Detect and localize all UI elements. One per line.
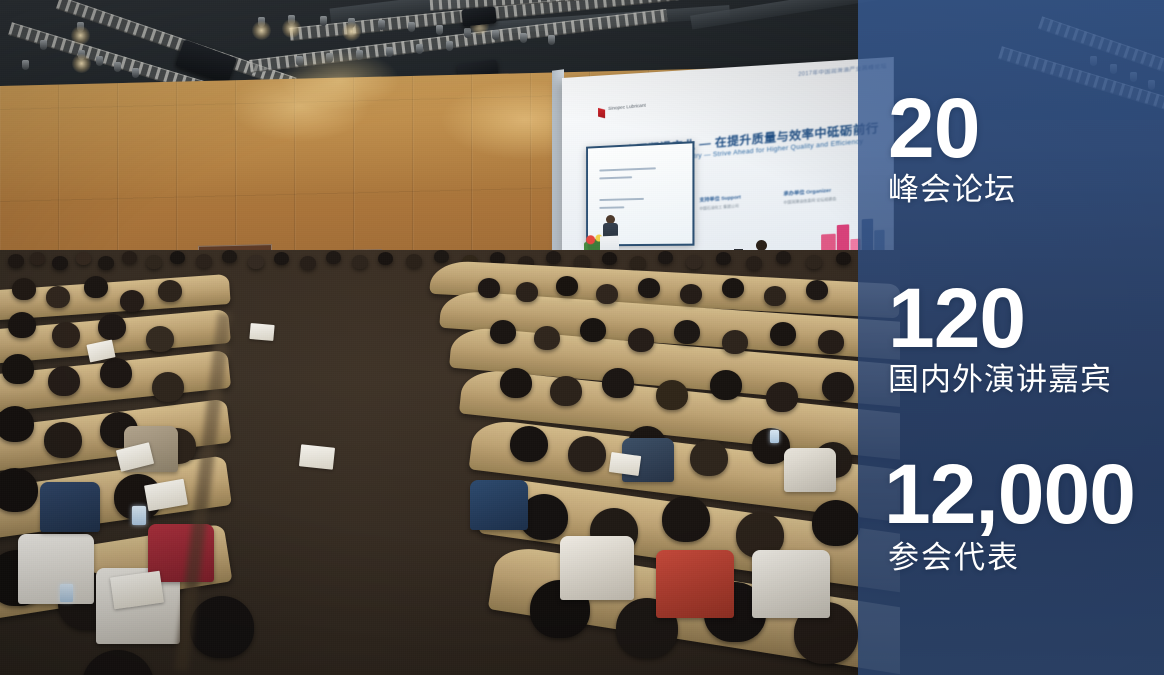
- audience-head: [680, 284, 702, 304]
- programme-booklet: [299, 444, 335, 469]
- audience-head: [510, 426, 548, 462]
- spotlight: [520, 33, 527, 43]
- audience-head: [478, 278, 500, 298]
- audience-head: [46, 286, 70, 308]
- audience-head: [500, 368, 532, 398]
- audience-head: [722, 330, 748, 354]
- credit-heading: 支持单位 Support: [699, 192, 757, 204]
- audience-head: [146, 255, 162, 269]
- audience-head: [556, 276, 578, 296]
- audience-head: [406, 254, 422, 268]
- stat-number-forums: 20: [888, 86, 1154, 170]
- credit-block: 支持单位 Support 中国石油化工 集团公司: [699, 192, 757, 250]
- spotlight: [378, 20, 385, 30]
- stat-block-delegates: 12,000 参会代表: [884, 452, 1154, 575]
- stat-number-speakers: 120: [888, 276, 1154, 360]
- spotlight: [386, 47, 393, 57]
- spotlight: [296, 56, 303, 66]
- audience-head: [658, 251, 673, 264]
- stat-label-delegates: 参会代表: [888, 542, 1154, 575]
- spotlight: [258, 17, 265, 27]
- spotlight: [77, 22, 84, 32]
- audience-head: [776, 251, 791, 264]
- smartphone-screen: [60, 584, 73, 602]
- audience-head: [30, 252, 45, 265]
- audience-head: [0, 468, 38, 512]
- audience-head: [686, 255, 702, 269]
- spotlight: [436, 25, 443, 35]
- slide-line: [599, 167, 656, 171]
- audience-head: [806, 255, 822, 269]
- audience-person-body: [40, 482, 100, 532]
- audience-seating: [0, 250, 900, 675]
- audience-head: [662, 496, 710, 542]
- audience-head: [766, 382, 798, 412]
- spotlight: [326, 53, 333, 63]
- spotlight: [356, 50, 363, 60]
- slide-line: [599, 176, 632, 179]
- slide-line: [599, 206, 624, 208]
- audience-head: [516, 282, 538, 302]
- audience-head: [580, 318, 606, 342]
- sponsor-logo: Sinopec Lubricant: [598, 102, 651, 121]
- spotlight: [348, 18, 355, 28]
- audience-head: [98, 314, 126, 340]
- audience-head: [722, 278, 744, 298]
- spotlight: [96, 56, 103, 66]
- audience-head: [568, 436, 606, 472]
- audience-head: [0, 406, 34, 442]
- audience-head: [602, 368, 634, 398]
- smartphone-screen: [770, 430, 779, 443]
- audience-head: [170, 251, 185, 264]
- audience-head: [674, 320, 700, 344]
- spotlight: [288, 15, 295, 25]
- audience-head: [274, 252, 289, 265]
- slide-line: [599, 198, 644, 201]
- audience-head: [158, 280, 182, 302]
- audience-person-body: [18, 534, 94, 604]
- audience-head: [596, 284, 618, 304]
- audience-head: [76, 252, 91, 265]
- sponsor-logo-text: Sinopec Lubricant: [608, 103, 646, 112]
- audience-head: [2, 354, 34, 384]
- audience-head: [120, 290, 144, 312]
- spotlight: [40, 40, 47, 50]
- stat-block-speakers: 120 国内外演讲嘉宾: [888, 276, 1154, 397]
- spotlight: [416, 44, 423, 54]
- audience-head: [434, 250, 449, 263]
- audience-head: [44, 422, 82, 458]
- spotlight: [132, 68, 139, 78]
- stage-light-fixture: [461, 6, 497, 26]
- audience-person-body: [752, 550, 830, 618]
- stat-label-forums: 峰会论坛: [888, 174, 1154, 207]
- audience-head: [716, 252, 731, 265]
- audience-head: [690, 440, 728, 476]
- audience-head: [300, 256, 316, 270]
- audience-head: [8, 254, 24, 268]
- spotlight: [492, 30, 499, 40]
- stat-block-forums: 20 峰会论坛: [888, 86, 1154, 207]
- audience-head: [638, 278, 660, 298]
- audience-head: [100, 358, 132, 388]
- smartphone-screen: [132, 506, 146, 525]
- audience-head: [190, 596, 254, 658]
- credit-lines: 中国石油化工 集团公司: [699, 203, 757, 212]
- audience-head: [628, 328, 654, 352]
- audience-head: [534, 326, 560, 350]
- audience-head: [8, 312, 36, 338]
- audience-head: [836, 252, 851, 265]
- spotlight: [114, 62, 121, 72]
- credit-heading: 承办单位 Organizer: [783, 186, 843, 198]
- audience-head: [630, 256, 646, 270]
- audience-head: [806, 280, 828, 300]
- audience-head: [352, 255, 368, 269]
- spotlight: [408, 22, 415, 32]
- audience-head: [52, 256, 68, 270]
- stat-number-delegates: 12,000: [884, 452, 1154, 536]
- spotlight: [446, 41, 453, 51]
- audience-head: [248, 255, 264, 269]
- audience-head: [146, 326, 174, 352]
- audience-head: [546, 251, 561, 264]
- audience-head: [84, 276, 108, 298]
- audience-head: [490, 320, 516, 344]
- sponsor-logo-mark: [598, 107, 605, 119]
- audience-head: [196, 254, 212, 268]
- audience-head: [746, 256, 762, 270]
- spotlight: [320, 16, 327, 26]
- statistics-panel: 20 峰会论坛 120 国内外演讲嘉宾 12,000 参会代表: [858, 0, 1164, 675]
- audience-head: [812, 500, 860, 546]
- audience-head: [764, 286, 786, 306]
- audience-head: [770, 322, 796, 346]
- conference-stats-graphic: 2017年中国润滑油产业高峰论坛 Sinopec Lubricant 中国润滑产…: [0, 0, 1164, 675]
- audience-person-body: [656, 550, 734, 618]
- audience-head: [222, 250, 237, 263]
- audience-person-body: [470, 480, 528, 530]
- programme-booklet: [249, 323, 274, 341]
- audience-head: [98, 256, 114, 270]
- audience-head: [656, 380, 688, 410]
- audience-person-body: [784, 448, 836, 492]
- programme-booklet: [609, 452, 641, 476]
- audience-head: [710, 370, 742, 400]
- audience-head: [52, 322, 80, 348]
- audience-person-body: [560, 536, 634, 600]
- audience-head: [378, 252, 393, 265]
- audience-head: [822, 372, 854, 402]
- audience-head: [12, 278, 36, 300]
- audience-head: [818, 330, 844, 354]
- audience-head: [602, 252, 617, 265]
- audience-head: [326, 251, 341, 264]
- audience-head: [48, 366, 80, 396]
- stat-label-speakers: 国内外演讲嘉宾: [888, 364, 1154, 397]
- audience-head: [122, 251, 137, 264]
- credit-lines: 中国润滑油信息网 论坛组委会: [783, 196, 843, 205]
- spotlight: [548, 35, 555, 45]
- audience-head: [152, 372, 184, 402]
- spotlight: [78, 50, 85, 60]
- spotlight: [22, 60, 29, 70]
- audience-head: [550, 376, 582, 406]
